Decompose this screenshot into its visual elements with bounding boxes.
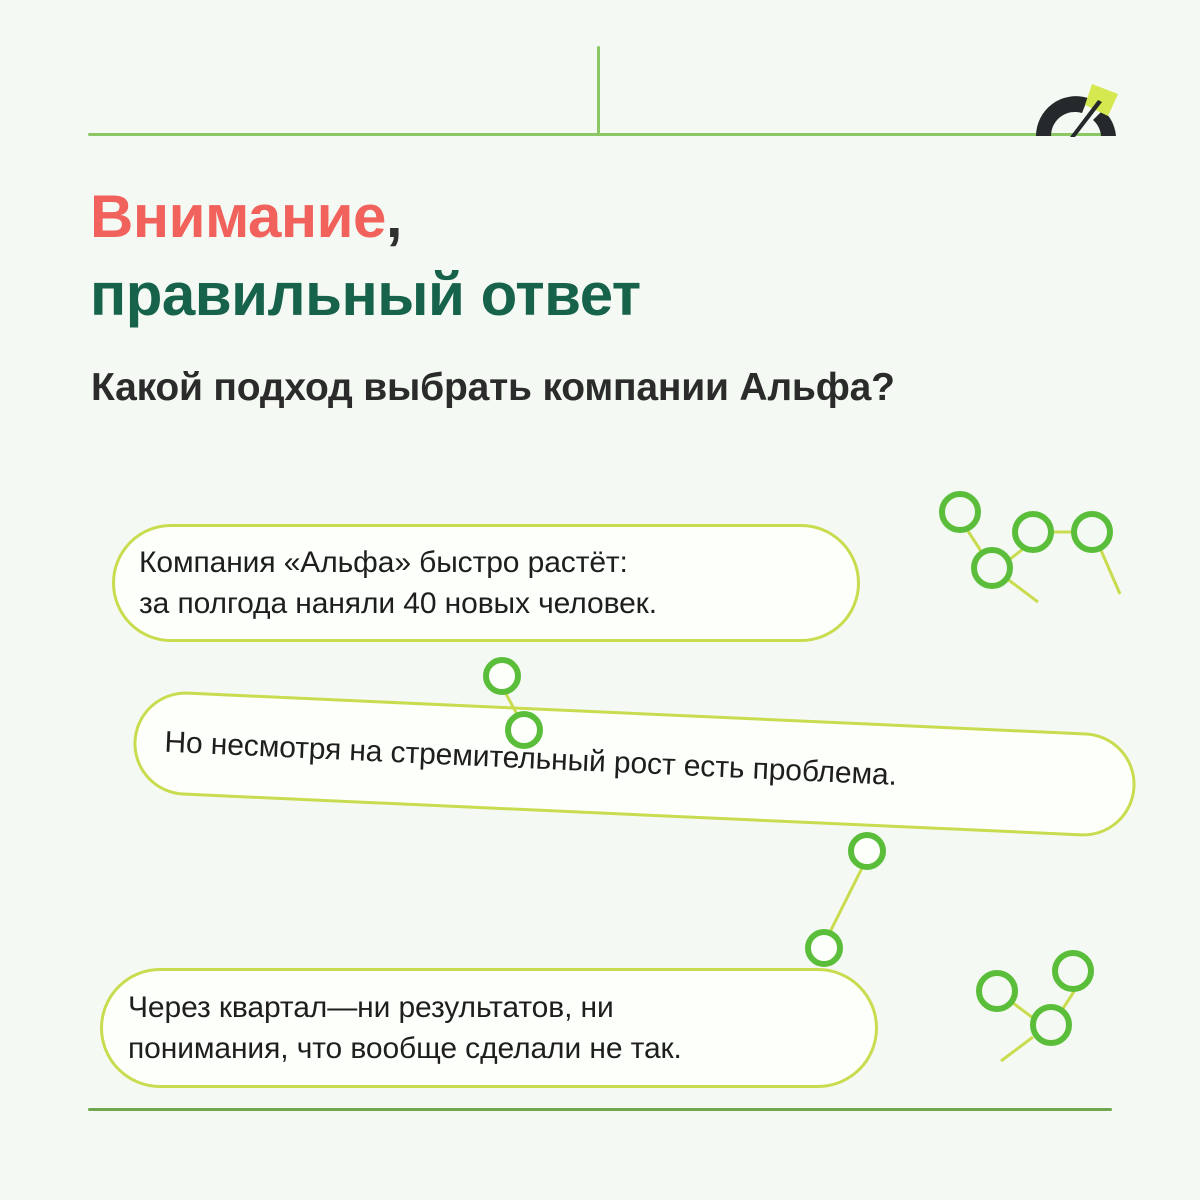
headline-accent-word: Внимание [90, 183, 386, 250]
page-subtitle: Какой подход выбрать компании Альфа? [91, 366, 895, 410]
footer-divider [88, 1108, 1112, 1111]
header-divider [88, 133, 1112, 136]
node-connector-pair [780, 820, 950, 990]
node-cluster-three [955, 945, 1145, 1095]
headline-line-1: Внимание, [90, 178, 990, 256]
node-cluster-four [920, 470, 1140, 620]
headline-comma: , [386, 183, 402, 250]
statement-bubble-2-text: Но несмотря на стремительный рост есть п… [164, 722, 898, 797]
statement-bubble-2[interactable]: Но несмотря на стремительный рост есть п… [131, 689, 1138, 838]
statement-bubble-1[interactable]: Компания «Альфа» быстро растёт: за полго… [112, 524, 860, 642]
page-title: Внимание, правильный ответ [90, 178, 990, 334]
statement-bubble-3-text: Через квартал—ни результатов, ни пониман… [128, 987, 682, 1070]
slide-canvas: Внимание, правильный ответ Какой подход … [0, 0, 1200, 1200]
headline-line-2: правильный ответ [90, 256, 990, 334]
statement-bubble-3[interactable]: Через квартал—ни результатов, ни пониман… [100, 968, 878, 1088]
statement-bubble-1-text: Компания «Альфа» быстро растёт: за полго… [139, 542, 657, 625]
header-tick-mark [597, 46, 600, 134]
speedometer-logo [1030, 80, 1122, 138]
